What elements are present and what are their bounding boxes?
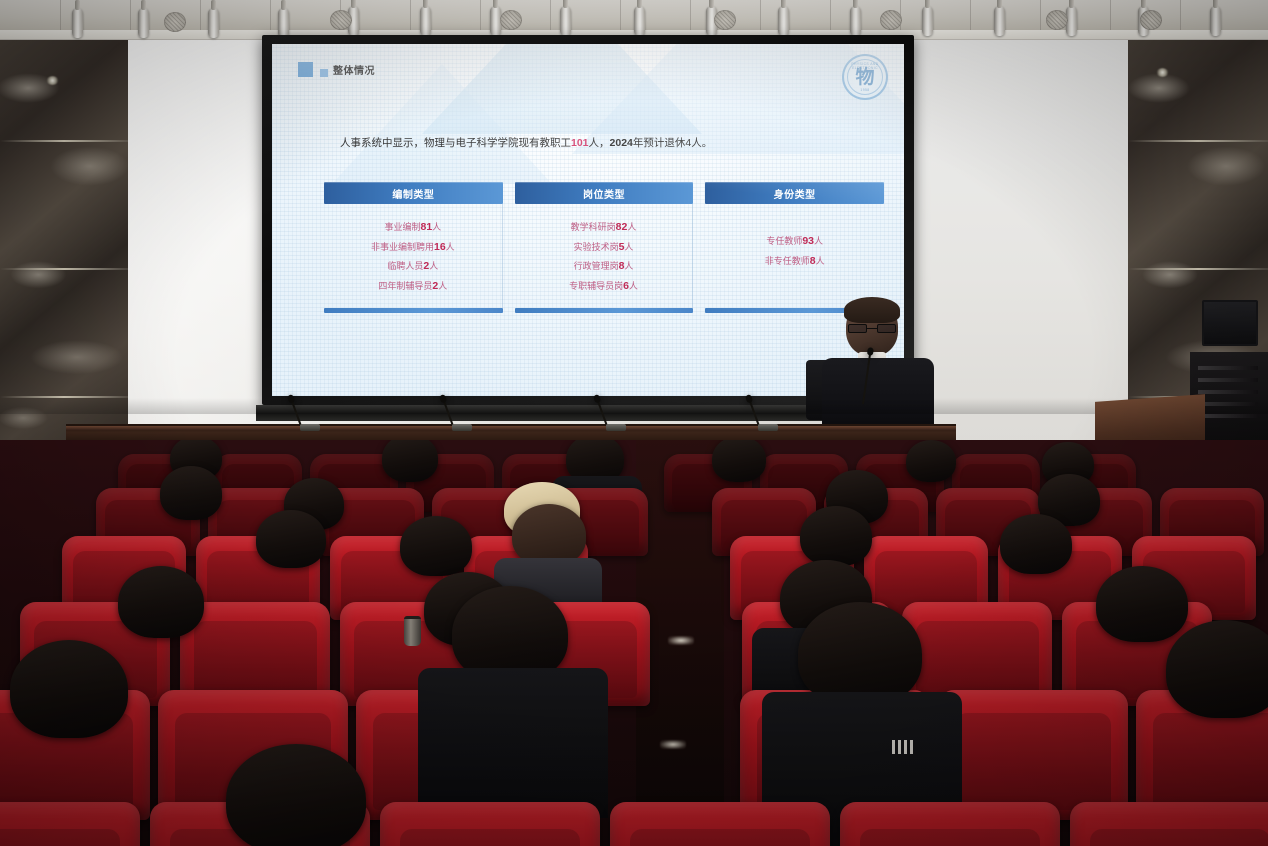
seat <box>610 802 830 846</box>
seal-bottom-text: 1958 <box>844 88 886 92</box>
table-row: 实验技术岗5人 <box>574 242 634 253</box>
row-unit: 人 <box>624 261 633 271</box>
spotlight-icon <box>994 6 1005 36</box>
auditorium-scene: 整体情况 PHYSICS AND ELECTRONIC SCIENCE 物 19… <box>0 0 1268 846</box>
seat <box>938 690 1128 820</box>
audience-seating-area <box>0 440 1268 846</box>
row-label: 非事业编制聘用 <box>371 242 434 252</box>
row-unit: 人 <box>429 261 438 271</box>
table-row: 非专任教师8人 <box>765 256 825 267</box>
spotlight-icon <box>420 6 431 36</box>
seal-top-text: PHYSICS AND ELECTRONIC SCIENCE <box>844 62 886 74</box>
background-chevron <box>332 64 552 184</box>
presenter-person <box>818 300 938 440</box>
lead-highlight-number: 101 <box>571 137 589 149</box>
ceiling-vent-icon <box>164 12 186 32</box>
stage-shadow <box>0 398 1268 414</box>
column-body: 教学科研岗82人 实验技术岗5人 行政管理岗8人 专职辅导员岗6人 <box>515 204 694 308</box>
spotlight-icon <box>208 8 219 38</box>
slide-lead-sentence: 人事系统中显示，物理与电子科学学院现有教职工101人，2024年预计退休4人。 <box>340 136 860 151</box>
column-header: 岗位类型 <box>515 182 694 204</box>
audience-head <box>256 510 326 568</box>
control-monitor <box>1202 300 1258 346</box>
audience-head <box>512 504 586 566</box>
spotlight-icon <box>1210 6 1221 36</box>
row-label: 事业编制 <box>384 222 420 232</box>
audience-head <box>118 566 204 638</box>
lead-middle: 人， <box>589 137 610 149</box>
audience-head <box>1096 566 1188 642</box>
title-square-large-icon <box>298 62 313 77</box>
row-label: 教学科研岗 <box>571 222 616 232</box>
row-label: 实验技术岗 <box>574 242 619 252</box>
seat <box>0 802 140 846</box>
row-unit: 人 <box>446 242 455 252</box>
row-unit: 人 <box>432 222 441 232</box>
row-label: 四年制辅导员 <box>378 281 432 291</box>
university-seal-icon: PHYSICS AND ELECTRONIC SCIENCE 物 1958 <box>842 54 888 100</box>
row-value: 81 <box>420 221 432 233</box>
column-footer-bar <box>515 308 694 313</box>
floor-light <box>668 636 694 645</box>
seat <box>380 802 600 846</box>
audience-head <box>10 640 128 738</box>
table-row: 事业编制81人 <box>384 222 441 233</box>
spotlight-icon <box>634 6 645 36</box>
column-body: 事业编制81人 非事业编制聘用16人 临聘人员2人 四年制辅导员2人 <box>324 204 503 308</box>
ceiling-vent-icon <box>1140 10 1162 30</box>
row-value: 93 <box>802 235 814 247</box>
table-column-establishment: 编制类型 事业编制81人 非事业编制聘用16人 临聘人员2人 四年制辅导员2人 <box>324 182 503 313</box>
table-row: 教学科研岗82人 <box>571 222 637 233</box>
seat <box>840 802 1060 846</box>
lead-year: 2024 <box>610 137 633 149</box>
title-square-small-icon <box>320 69 328 77</box>
microphone-base <box>758 424 778 431</box>
spotlight-icon <box>850 6 861 36</box>
slide-title-block: 整体情况 <box>298 62 375 77</box>
row-unit: 人 <box>627 222 636 232</box>
row-value: 16 <box>434 241 446 253</box>
table-row: 非事业编制聘用16人 <box>371 242 455 253</box>
spotlight-icon <box>560 6 571 36</box>
table-column-position: 岗位类型 教学科研岗82人 实验技术岗5人 行政管理岗8人 专职辅导员岗6人 <box>515 182 694 313</box>
audience-torso <box>418 668 608 818</box>
row-label: 专任教师 <box>766 236 802 246</box>
spotlight-icon <box>922 6 933 36</box>
table-row: 专任教师93人 <box>766 236 823 247</box>
row-value: 82 <box>616 221 628 233</box>
audience-head <box>226 744 366 846</box>
ceiling-vent-icon <box>500 10 522 30</box>
audience-head <box>800 506 872 566</box>
audience-head <box>382 440 438 482</box>
lead-prefix: 人事系统中显示，物理与电子科学学院现有教职工 <box>340 137 571 149</box>
audience-head <box>400 516 472 576</box>
seat <box>1070 802 1268 846</box>
audience-head <box>712 440 766 482</box>
audience-head <box>1166 620 1268 718</box>
presentation-slide: 整体情况 PHYSICS AND ELECTRONIC SCIENCE 物 19… <box>272 44 904 396</box>
row-label: 行政管理岗 <box>574 261 619 271</box>
thermos-cup <box>404 616 421 646</box>
row-unit: 人 <box>814 236 823 246</box>
spotlight-icon <box>72 8 83 38</box>
column-footer-bar <box>324 308 503 313</box>
row-label: 非专任教师 <box>765 256 810 266</box>
row-unit: 人 <box>438 281 447 291</box>
spotlight-icon <box>778 6 789 36</box>
audience-head <box>160 466 222 520</box>
audience-head <box>906 440 956 482</box>
presenter-hair <box>844 297 900 323</box>
table-row: 四年制辅导员2人 <box>378 281 447 292</box>
row-label: 专职辅导员岗 <box>569 281 623 291</box>
row-unit: 人 <box>629 281 638 291</box>
ceiling-vent-icon <box>1046 10 1068 30</box>
lead-suffix: 年预计退休4人。 <box>633 137 712 149</box>
table-column-identity: 身份类型 专任教师93人 非专任教师8人 <box>705 182 884 313</box>
microphone-base <box>606 424 626 431</box>
row-unit: 人 <box>624 242 633 252</box>
ceiling-vent-icon <box>880 10 902 30</box>
table-row: 专职辅导员岗6人 <box>569 281 638 292</box>
audience-head <box>798 602 922 706</box>
column-body: 专任教师93人 非专任教师8人 <box>705 204 884 308</box>
row-label: 临聘人员 <box>387 261 423 271</box>
spotlight-icon <box>138 8 149 38</box>
ceiling-vent-icon <box>330 10 352 30</box>
staffing-table: 编制类型 事业编制81人 非事业编制聘用16人 临聘人员2人 四年制辅导员2人 <box>324 182 884 313</box>
ceiling-vent-icon <box>714 10 736 30</box>
glasses-icon <box>848 324 896 333</box>
column-header: 编制类型 <box>324 182 503 204</box>
microphone-base <box>452 424 472 431</box>
microphone-base <box>300 424 320 431</box>
audience-head <box>1000 514 1072 574</box>
table-row: 临聘人员2人 <box>387 261 438 272</box>
floor-light <box>660 740 686 749</box>
table-row: 行政管理岗8人 <box>574 261 634 272</box>
spotlight-icon <box>278 8 289 38</box>
slide-title: 整体情况 <box>333 67 375 77</box>
projection-screen[interactable]: 整体情况 PHYSICS AND ELECTRONIC SCIENCE 物 19… <box>262 35 914 405</box>
jacket-stripes <box>892 740 913 754</box>
column-header: 身份类型 <box>705 182 884 204</box>
row-unit: 人 <box>816 256 825 266</box>
